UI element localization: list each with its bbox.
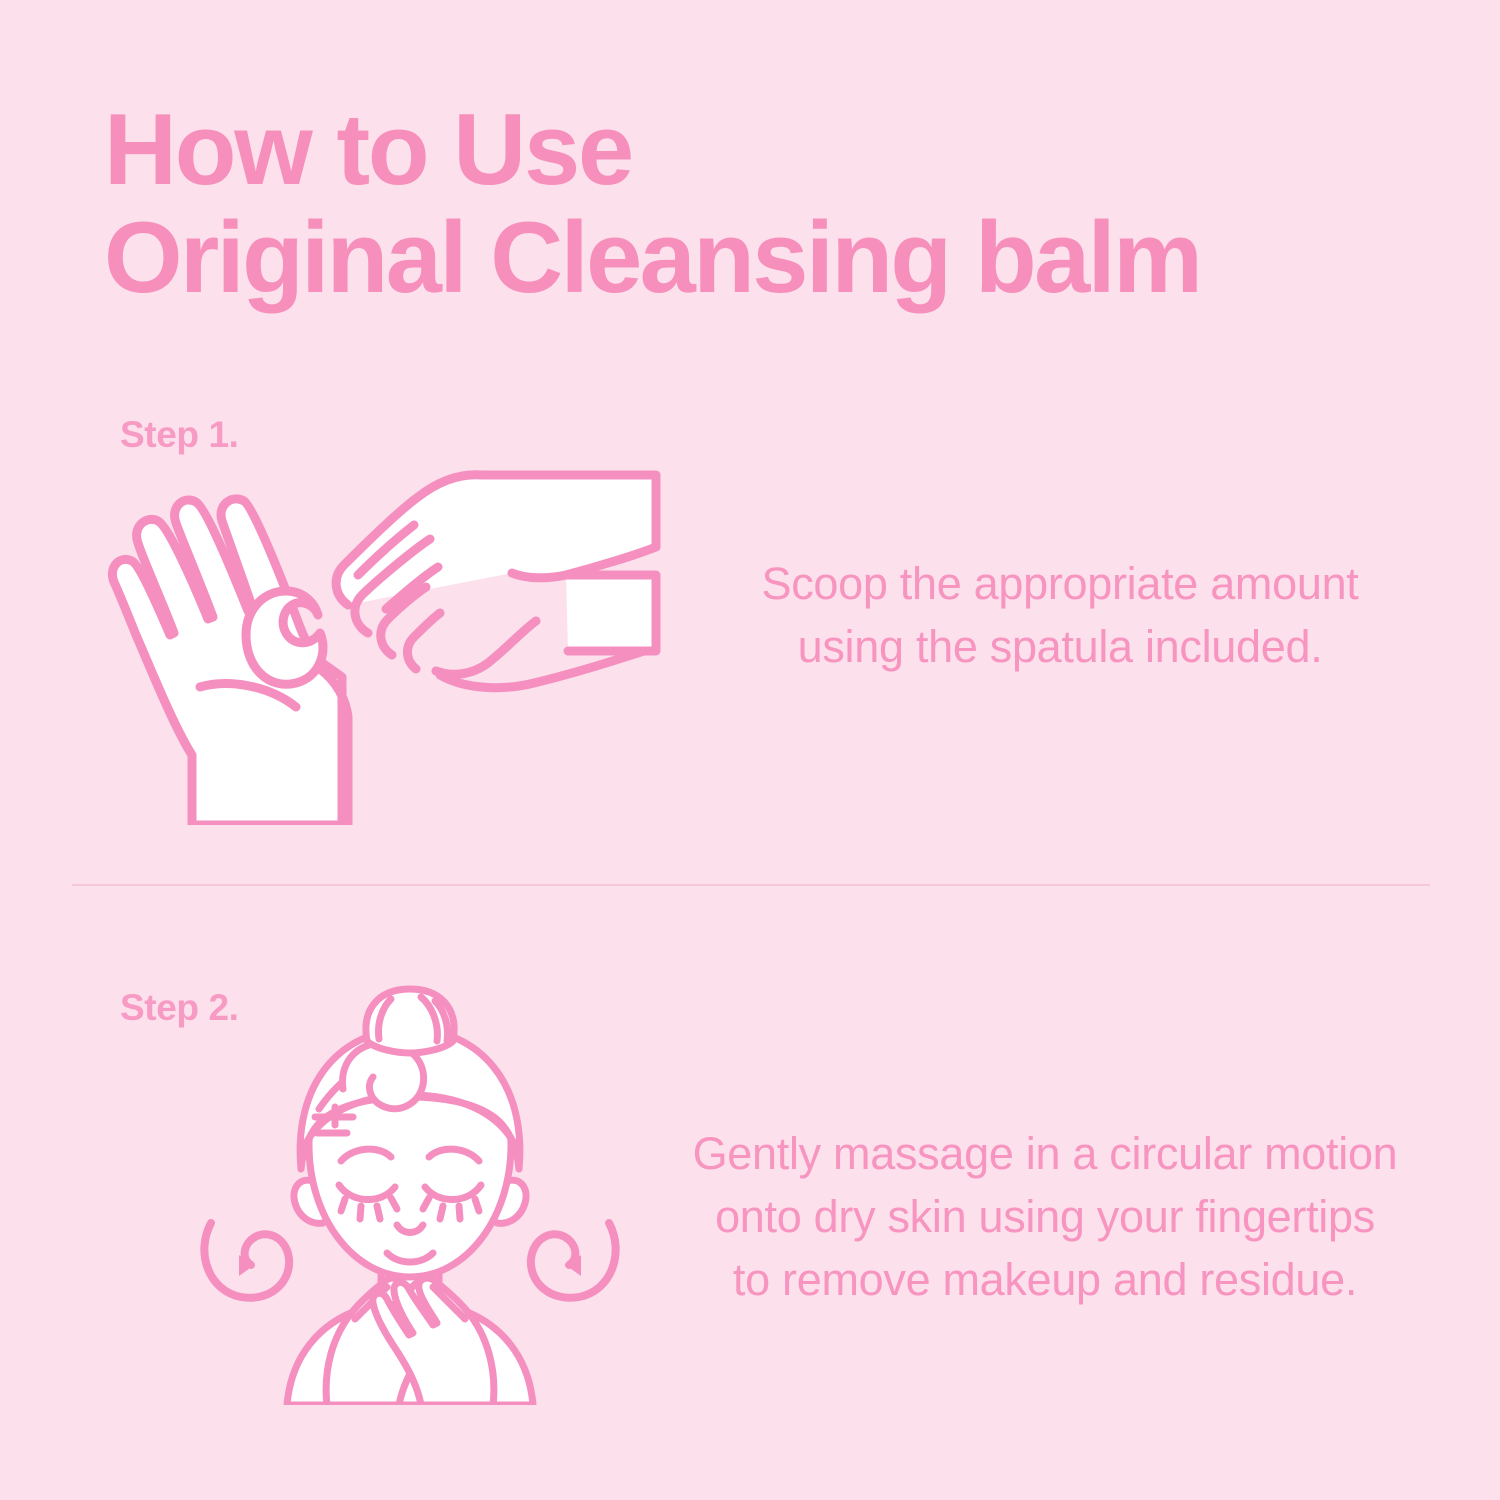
hand-scooping-balm-with-spatula-icon — [96, 455, 676, 825]
step-1-description-line-1: Scoop the appropriate amount — [690, 552, 1430, 615]
how-to-use-infographic: How to Use Original Cleansing balm Step … — [0, 0, 1500, 1500]
page-title: How to Use Original Cleansing balm — [104, 96, 1304, 312]
section-divider — [72, 884, 1430, 886]
step-2-description-line-1: Gently massage in a circular motion — [650, 1122, 1440, 1185]
woman-massaging-face-icon — [195, 985, 625, 1405]
step-1-label: Step 1. — [120, 415, 239, 455]
step-2-description-line-2: onto dry skin using your fingertips — [650, 1185, 1440, 1248]
page-title-line-2: Original Cleansing balm — [104, 204, 1304, 312]
step-1-description: Scoop the appropriate amount using the s… — [690, 552, 1430, 678]
step-1-description-line-2: using the spatula included. — [690, 615, 1430, 678]
step-2-description: Gently massage in a circular motion onto… — [650, 1122, 1440, 1311]
page-title-line-1: How to Use — [104, 96, 1304, 204]
step-2-description-line-3: to remove makeup and residue. — [650, 1248, 1440, 1311]
